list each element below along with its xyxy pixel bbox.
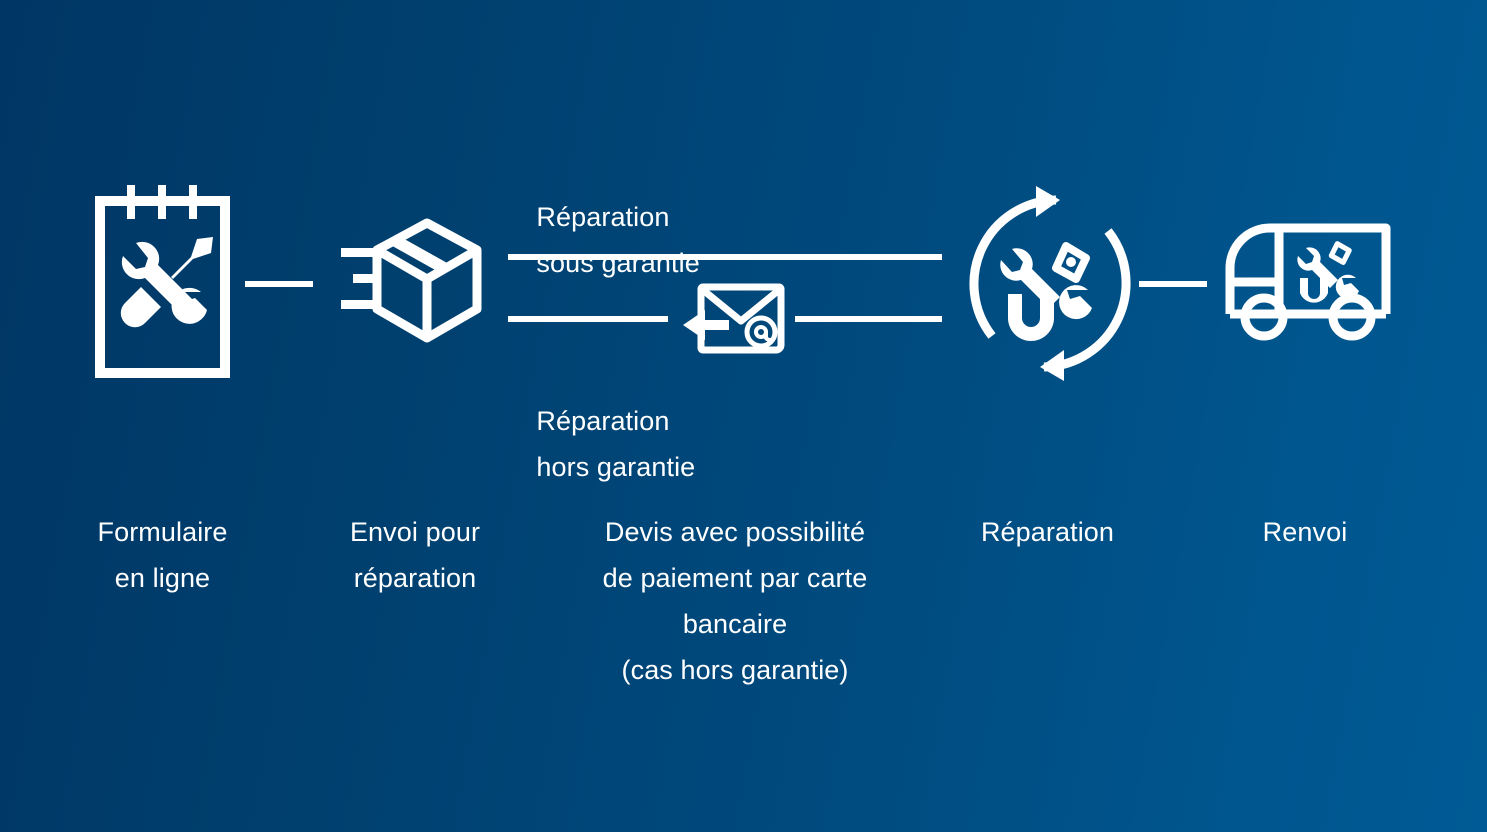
- diagram-canvas: Réparation sous garantie Réparation hors…: [0, 0, 1487, 832]
- connector-nonwarranty-right-segment: [795, 316, 942, 322]
- caption-line: Devis avec possibilité: [540, 509, 930, 555]
- caption-line: Formulaire: [35, 509, 290, 555]
- clipboard-tools-icon: [95, 185, 235, 380]
- package-shipping-icon: [341, 219, 486, 347]
- caption-line: (cas hors garantie): [540, 647, 930, 693]
- email-quote-icon: [681, 281, 785, 356]
- caption-envoi-pour-reparation: Envoi pour réparation: [295, 509, 535, 601]
- caption-line: bancaire: [540, 601, 930, 647]
- caption-formulaire-en-ligne: Formulaire en ligne: [35, 509, 290, 601]
- branch-label-out-of-warranty-line1: Réparation: [536, 406, 669, 436]
- caption-line: Envoi pour: [295, 509, 535, 555]
- icon-formulaire-en-ligne: [95, 185, 235, 380]
- icon-reparation-cycle: [962, 186, 1138, 381]
- delivery-van-icon: [1222, 222, 1394, 340]
- branch-label-under-warranty-line2: sous garantie: [536, 248, 699, 278]
- caption-line: en ligne: [35, 555, 290, 601]
- icon-devis-email: [681, 281, 785, 356]
- branch-label-under-warranty-line1: Réparation: [536, 202, 669, 232]
- branch-label-under-warranty: Réparation sous garantie: [506, 148, 700, 332]
- repair-cycle-icon: [962, 186, 1138, 381]
- caption-reparation: Réparation: [930, 509, 1165, 555]
- caption-line: Réparation: [930, 509, 1165, 555]
- connector-repair-to-van: [1139, 281, 1207, 287]
- caption-line: de paiement par carte: [540, 555, 930, 601]
- branch-label-out-of-warranty-line2: hors garantie: [536, 452, 695, 482]
- caption-line: réparation: [295, 555, 535, 601]
- connector-form-to-package: [245, 281, 313, 287]
- caption-line: Renvoi: [1190, 509, 1420, 555]
- icon-renvoi-van: [1222, 222, 1394, 340]
- at-symbol: [747, 318, 775, 346]
- icon-envoi-pour-reparation: [341, 219, 486, 347]
- caption-devis-paiement: Devis avec possibilité de paiement par c…: [540, 509, 930, 693]
- caption-renvoi: Renvoi: [1190, 509, 1420, 555]
